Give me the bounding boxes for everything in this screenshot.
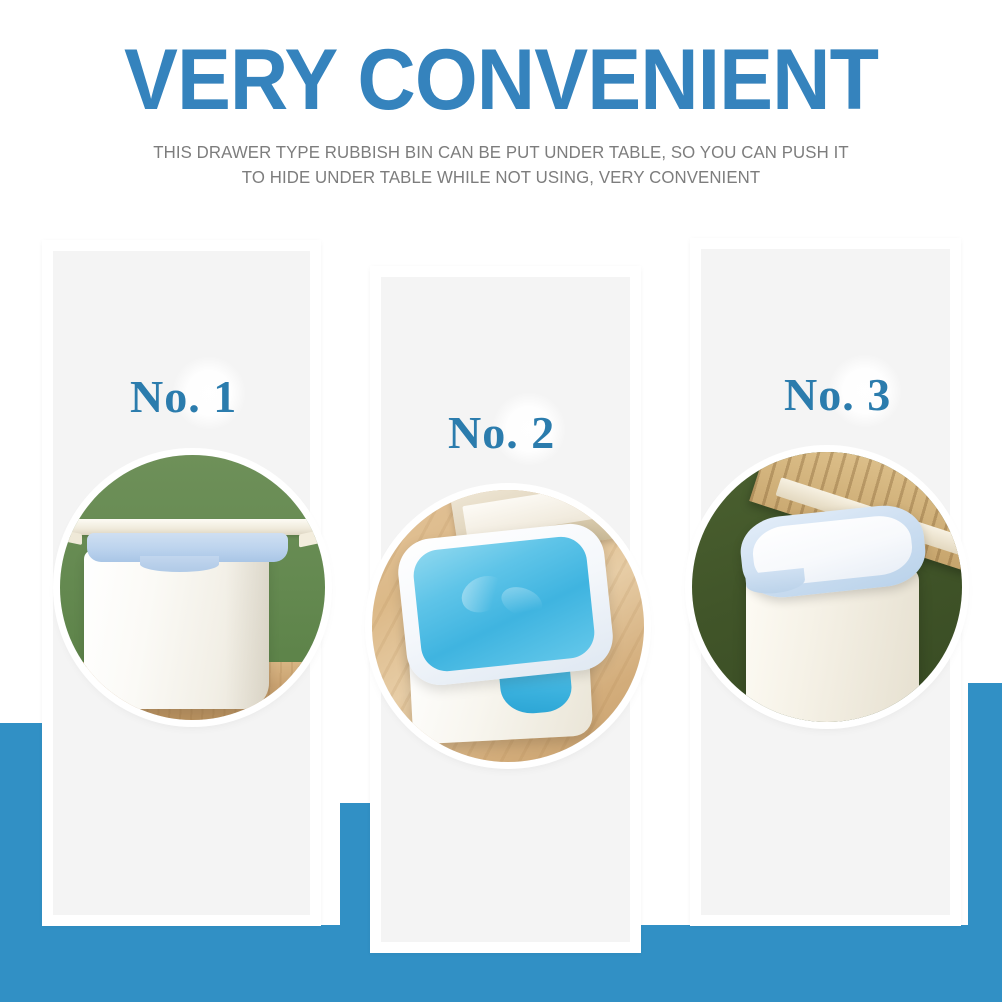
card-label-1: No. 1 xyxy=(130,370,237,423)
bin-body-shading xyxy=(225,550,270,709)
product-photo-2 xyxy=(372,490,644,762)
card-label-2: No. 2 xyxy=(448,406,555,459)
photo-3-scene xyxy=(692,452,962,722)
accent-floor-bar-lower xyxy=(0,952,1002,1002)
bin-body xyxy=(84,550,270,709)
trash-bag xyxy=(411,534,597,674)
photo-1-scene xyxy=(60,455,325,720)
subtitle-line-2: TO HIDE UNDER TABLE WHILE NOT USING, VER… xyxy=(20,165,982,190)
product-photo-1 xyxy=(60,455,325,720)
infographic-canvas: VERY CONVENIENT THIS DRAWER TYPE RUBBISH… xyxy=(0,0,1002,1002)
header: VERY CONVENIENT THIS DRAWER TYPE RUBBISH… xyxy=(0,0,1002,190)
card-label-1-text: No. 1 xyxy=(130,371,237,422)
product-photo-3 xyxy=(692,452,962,722)
card-label-3: No. 3 xyxy=(784,368,891,421)
card-label-2-text: No. 2 xyxy=(448,407,555,458)
page-title: VERY CONVENIENT xyxy=(30,0,972,122)
subtitle-line-1: THIS DRAWER TYPE RUBBISH BIN CAN BE PUT … xyxy=(20,140,982,165)
page-subtitle: THIS DRAWER TYPE RUBBISH BIN CAN BE PUT … xyxy=(20,122,982,190)
photo-2-scene xyxy=(372,490,644,762)
card-label-3-text: No. 3 xyxy=(784,369,891,420)
bin-lid-notch xyxy=(140,556,220,572)
